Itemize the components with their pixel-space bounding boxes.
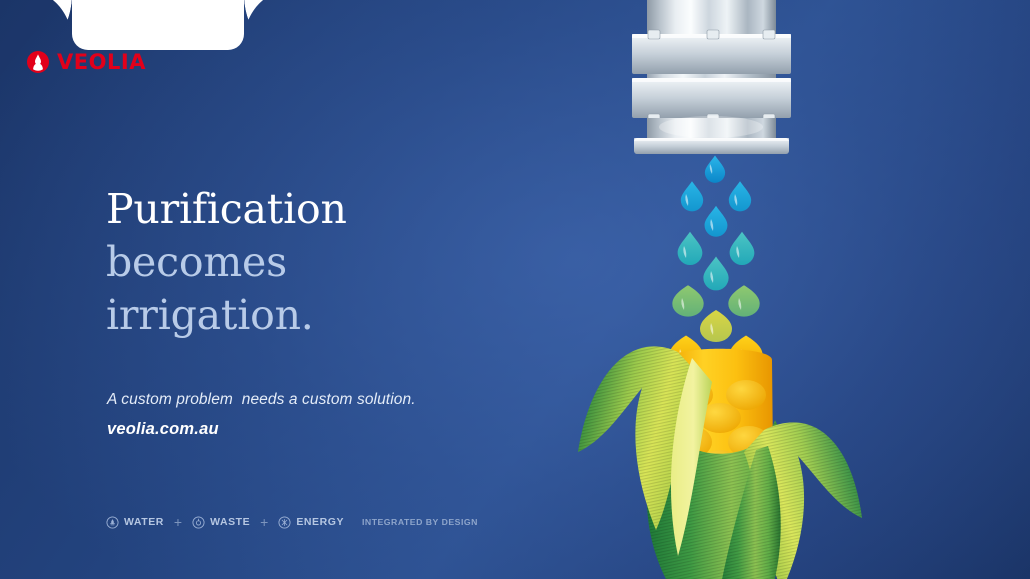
tagline-text: A custom problem needs a custom solution… <box>107 391 416 409</box>
website-url[interactable]: veolia.com.au <box>107 420 219 439</box>
headline-line-1: Purification <box>106 183 347 236</box>
industrial-pipe-illustration <box>629 0 794 160</box>
corn-husk-leaves-illustration <box>560 300 880 579</box>
footer-strip: WATER + WASTE + ENERGY INTEGRATED <box>106 515 478 529</box>
footer-separator-1: + <box>174 515 182 529</box>
footer-label-waste: WASTE <box>210 516 250 528</box>
veolia-logo-tab[interactable] <box>72 0 244 50</box>
footer-item-waste: WASTE <box>192 516 250 529</box>
veolia-droplet-mark-icon <box>26 50 50 74</box>
veolia-wordmark: VEOLIA <box>57 50 146 74</box>
headline: Purification becomes irrigation. <box>106 183 347 342</box>
energy-circle-icon <box>278 516 291 529</box>
footer-label-water: WATER <box>124 516 164 528</box>
logo-tab-right-curve <box>244 0 284 50</box>
headline-line-3: irrigation. <box>106 289 347 342</box>
poster-canvas: VEOLIA Purification becomes irrigation. … <box>0 0 1030 579</box>
waste-circle-icon <box>192 516 205 529</box>
footer-separator-2: + <box>260 515 268 529</box>
logo-tab-left-curve <box>32 0 72 50</box>
footer-tagline: INTEGRATED BY DESIGN <box>362 517 478 527</box>
headline-line-2: becomes <box>106 236 347 289</box>
footer-item-energy: ENERGY <box>278 516 344 529</box>
footer-label-energy: ENERGY <box>296 516 344 528</box>
water-circle-icon <box>106 516 119 529</box>
footer-item-water: WATER <box>106 516 164 529</box>
veolia-logo[interactable]: VEOLIA <box>0 50 172 74</box>
